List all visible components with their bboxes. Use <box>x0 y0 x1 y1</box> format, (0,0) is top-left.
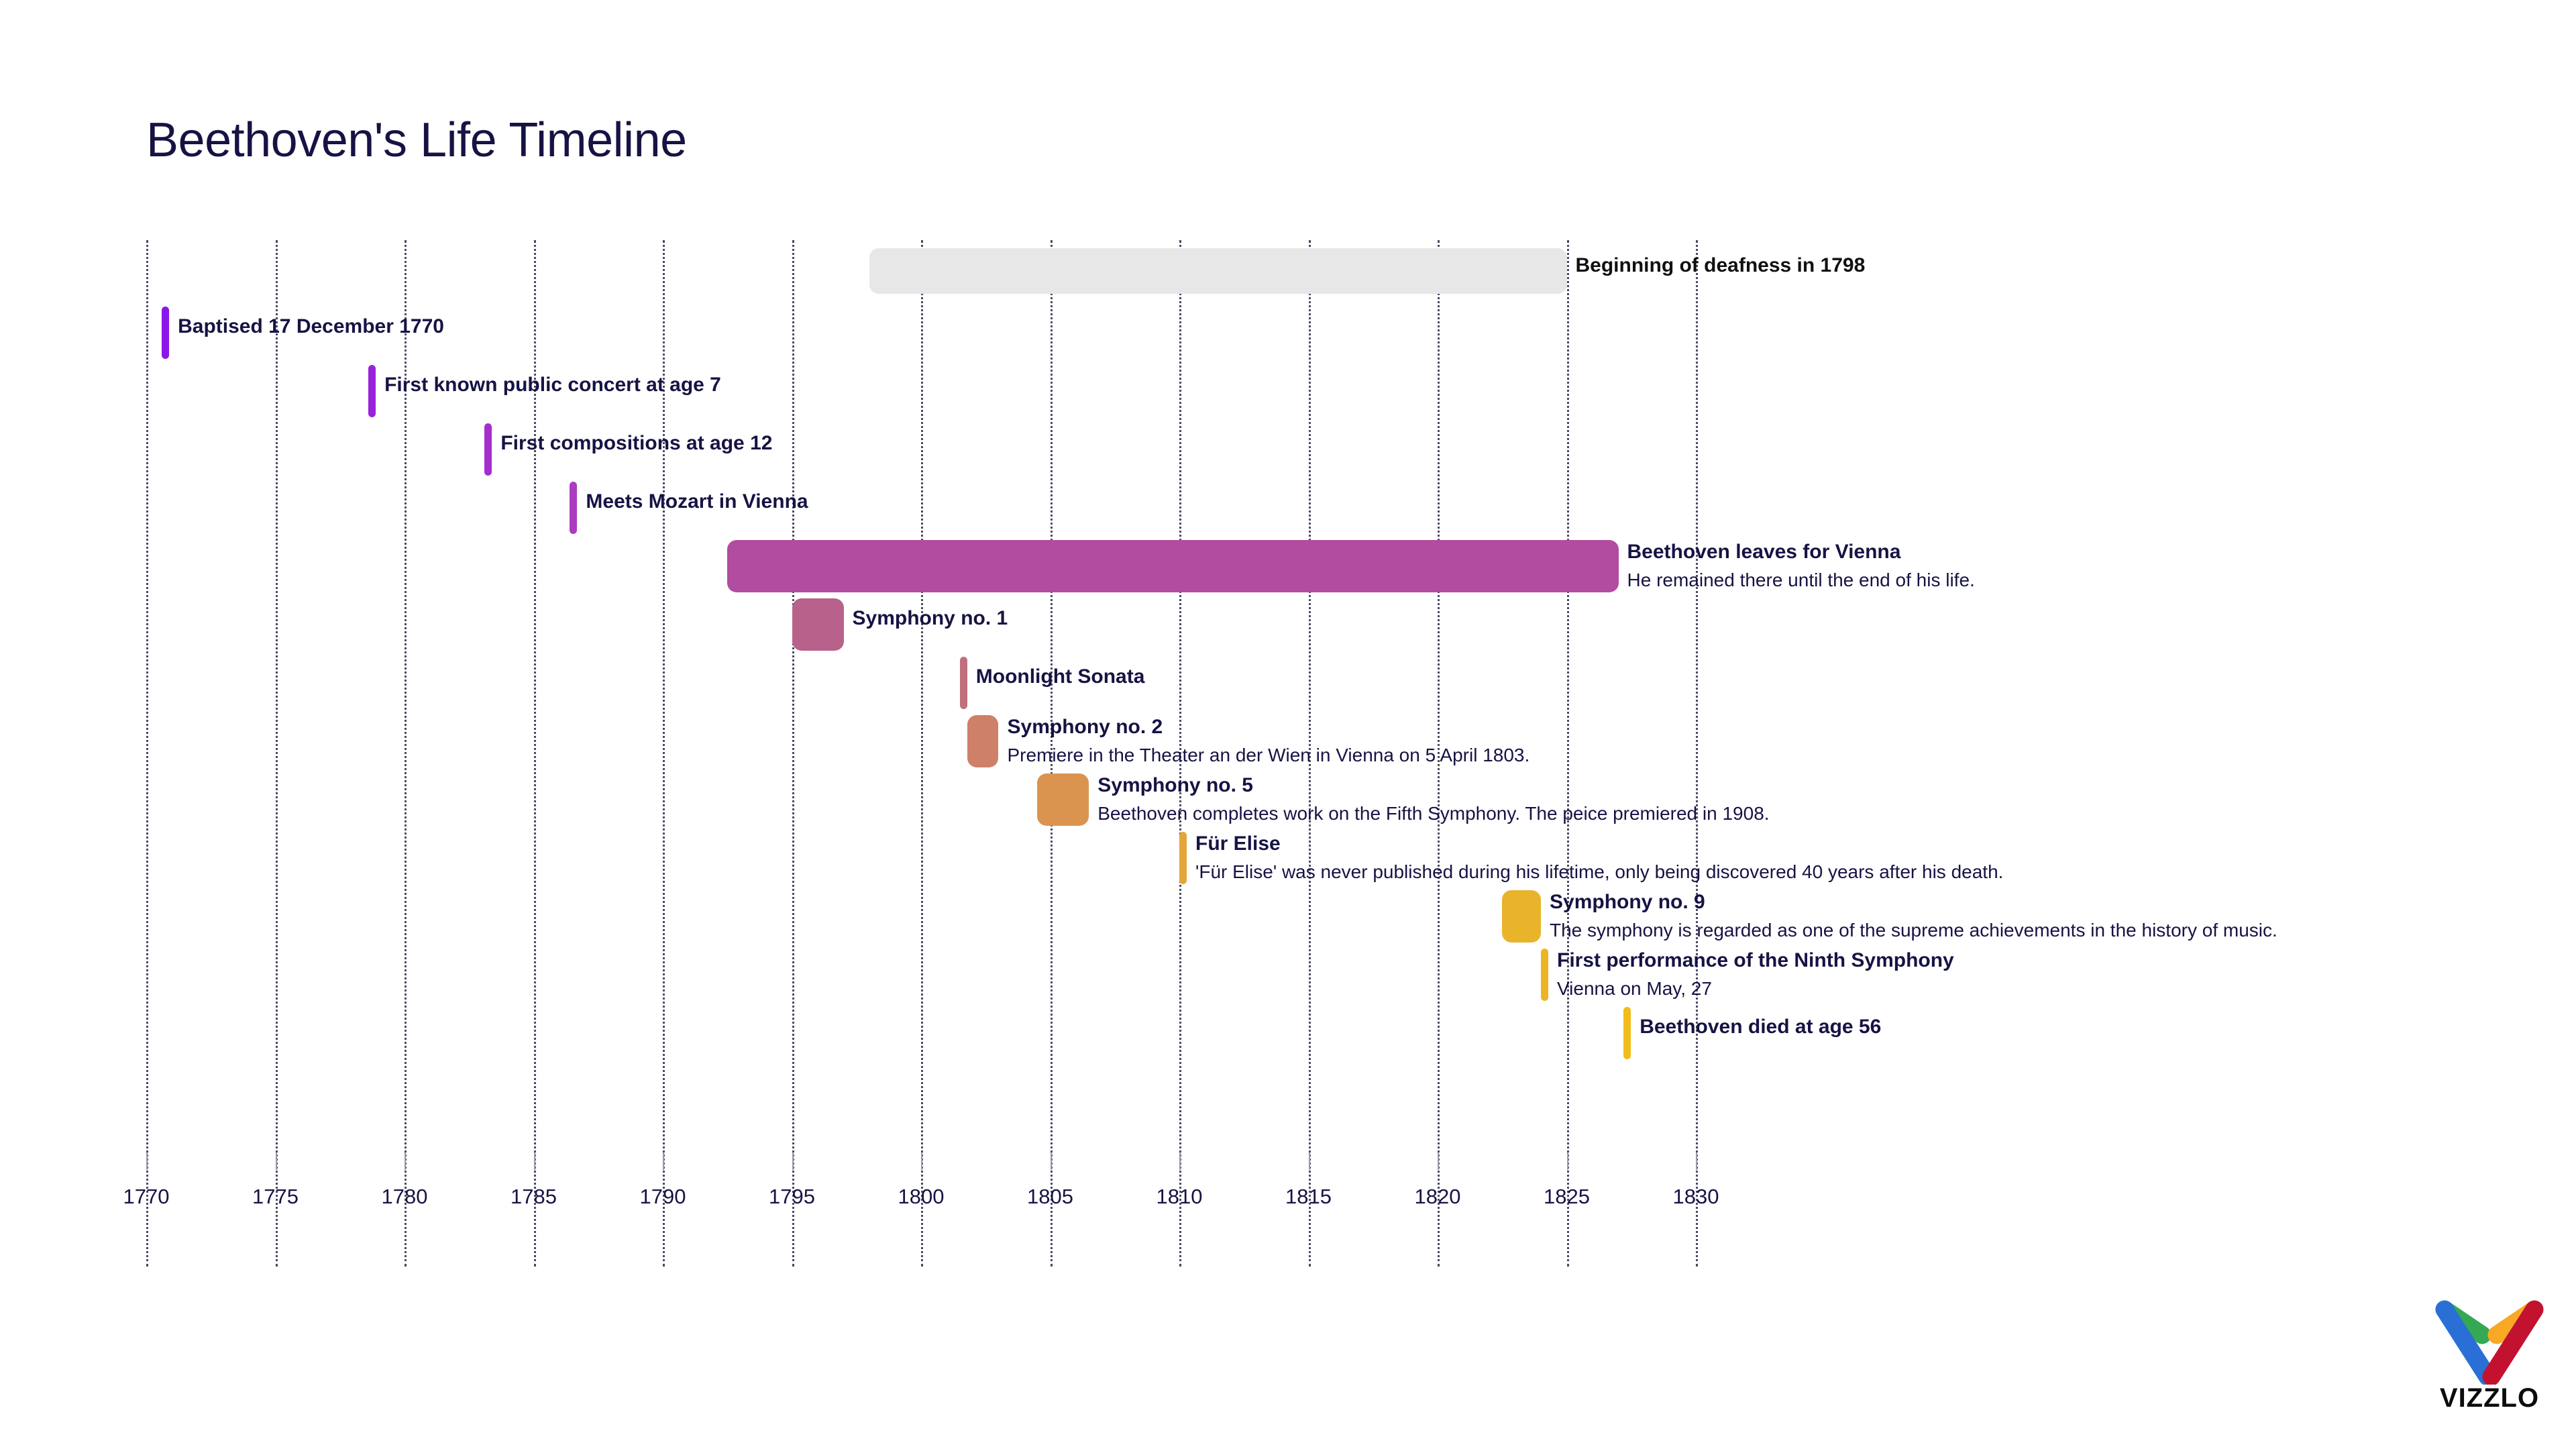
event-label: Beethoven died at age 56 <box>1640 1015 1881 1040</box>
gridline <box>1696 240 1698 1267</box>
event-sublabel: The symphony is regarded as one of the s… <box>1550 918 2277 942</box>
tick-label-1805: 1805 <box>1027 1185 1073 1209</box>
event-sublabel: Premiere in the Theater an der Wien in V… <box>1008 743 1530 767</box>
tick-label-1820: 1820 <box>1415 1185 1461 1209</box>
tick-mark <box>1179 1152 1181 1170</box>
tick-label-1795: 1795 <box>769 1185 815 1209</box>
gridline <box>921 240 923 1267</box>
gridline <box>1567 240 1569 1267</box>
event-label: Symphony no. 2 <box>1008 715 1530 740</box>
tick-label-1790: 1790 <box>640 1185 686 1209</box>
tick-mark <box>276 1152 277 1170</box>
event-label: Symphony no. 5 <box>1097 773 1769 798</box>
vizzlo-logo: VIZZLO <box>2412 1297 2567 1422</box>
event-text-baptised: Baptised 17 December 1770 <box>178 315 444 339</box>
event-label: Beethoven leaves for Vienna <box>1627 540 1975 565</box>
event-text-fur-elise: Für Elise'Für Elise' was never published… <box>1195 832 2003 883</box>
event-label: Baptised 17 December 1770 <box>178 315 444 339</box>
event-label: Symphony no. 1 <box>853 606 1008 631</box>
event-text-vienna: Beethoven leaves for ViennaHe remained t… <box>1627 540 1975 592</box>
event-text-moonlight: Moonlight Sonata <box>976 665 1145 690</box>
tick-mark <box>1438 1152 1439 1170</box>
event-sublabel: 'Für Elise' was never published during h… <box>1195 860 2003 883</box>
event-bar-sym2[interactable] <box>967 715 998 767</box>
tick-label-1775: 1775 <box>252 1185 299 1209</box>
tick-mark <box>921 1152 922 1170</box>
event-text-sym5: Symphony no. 5Beethoven completes work o… <box>1097 773 1769 825</box>
event-bar-vienna[interactable] <box>727 540 1618 592</box>
event-text-deafness: Beginning of deafness in 1798 <box>1576 254 1866 278</box>
tick-label-1785: 1785 <box>511 1185 557 1209</box>
event-text-compositions: First compositions at age 12 <box>500 431 772 456</box>
event-bar-ninth-perf[interactable] <box>1541 949 1548 1001</box>
tick-mark <box>534 1152 535 1170</box>
event-label: First performance of the Ninth Symphony <box>1557 949 1954 973</box>
event-label: Moonlight Sonata <box>976 665 1145 690</box>
event-bar-sym1[interactable] <box>792 598 844 651</box>
event-label: Meets Mozart in Vienna <box>586 490 808 515</box>
event-bar-compositions[interactable] <box>484 423 492 476</box>
tick-mark <box>146 1152 148 1170</box>
event-label: Symphony no. 9 <box>1550 890 2277 915</box>
tick-mark <box>792 1152 794 1170</box>
tick-mark <box>663 1152 664 1170</box>
event-bar-sym5[interactable] <box>1037 773 1089 826</box>
vizzlo-mark-icon <box>2412 1297 2567 1385</box>
tick-label-1830: 1830 <box>1673 1185 1719 1209</box>
event-bar-sym9[interactable] <box>1502 890 1541 943</box>
event-bar-deafness[interactable] <box>869 248 1567 294</box>
event-label: Beginning of deafness in 1798 <box>1576 254 1866 278</box>
tick-label-1825: 1825 <box>1544 1185 1590 1209</box>
event-bar-concert[interactable] <box>368 365 376 417</box>
event-label: First known public concert at age 7 <box>384 373 721 398</box>
event-text-ninth-perf: First performance of the Ninth SymphonyV… <box>1557 949 1954 1000</box>
event-label: Für Elise <box>1195 832 2003 857</box>
event-bar-death[interactable] <box>1623 1007 1631 1059</box>
event-text-mozart: Meets Mozart in Vienna <box>586 490 808 515</box>
gridline <box>146 240 148 1267</box>
tick-mark <box>405 1152 406 1170</box>
vizzlo-wordmark: VIZZLO <box>2412 1383 2567 1413</box>
tick-mark <box>1567 1152 1568 1170</box>
tick-mark <box>1309 1152 1310 1170</box>
event-bar-baptised[interactable] <box>162 307 169 359</box>
tick-label-1810: 1810 <box>1157 1185 1203 1209</box>
tick-label-1815: 1815 <box>1285 1185 1332 1209</box>
event-bar-fur-elise[interactable] <box>1179 832 1187 884</box>
gridline <box>792 240 794 1267</box>
event-bar-moonlight[interactable] <box>960 657 967 709</box>
event-sublabel: He remained there until the end of his l… <box>1627 568 1975 592</box>
event-label: First compositions at age 12 <box>500 431 772 456</box>
tick-mark <box>1051 1152 1052 1170</box>
event-sublabel: Vienna on May, 27 <box>1557 977 1954 1000</box>
event-text-sym1: Symphony no. 1 <box>853 606 1008 631</box>
gridline <box>276 240 278 1267</box>
page-title: Beethoven's Life Timeline <box>146 113 687 168</box>
event-text-sym9: Symphony no. 9The symphony is regarded a… <box>1550 890 2277 942</box>
event-bar-mozart[interactable] <box>570 482 577 534</box>
timeline-plot: Beginning of deafness in 1798Baptised 17… <box>146 240 1696 1267</box>
tick-label-1800: 1800 <box>898 1185 945 1209</box>
event-sublabel: Beethoven completes work on the Fifth Sy… <box>1097 802 1769 825</box>
event-text-concert: First known public concert at age 7 <box>384 373 721 398</box>
tick-label-1770: 1770 <box>123 1185 170 1209</box>
event-text-sym2: Symphony no. 2Premiere in the Theater an… <box>1008 715 1530 767</box>
tick-label-1780: 1780 <box>382 1185 428 1209</box>
event-text-death: Beethoven died at age 56 <box>1640 1015 1881 1040</box>
tick-mark <box>1696 1152 1697 1170</box>
